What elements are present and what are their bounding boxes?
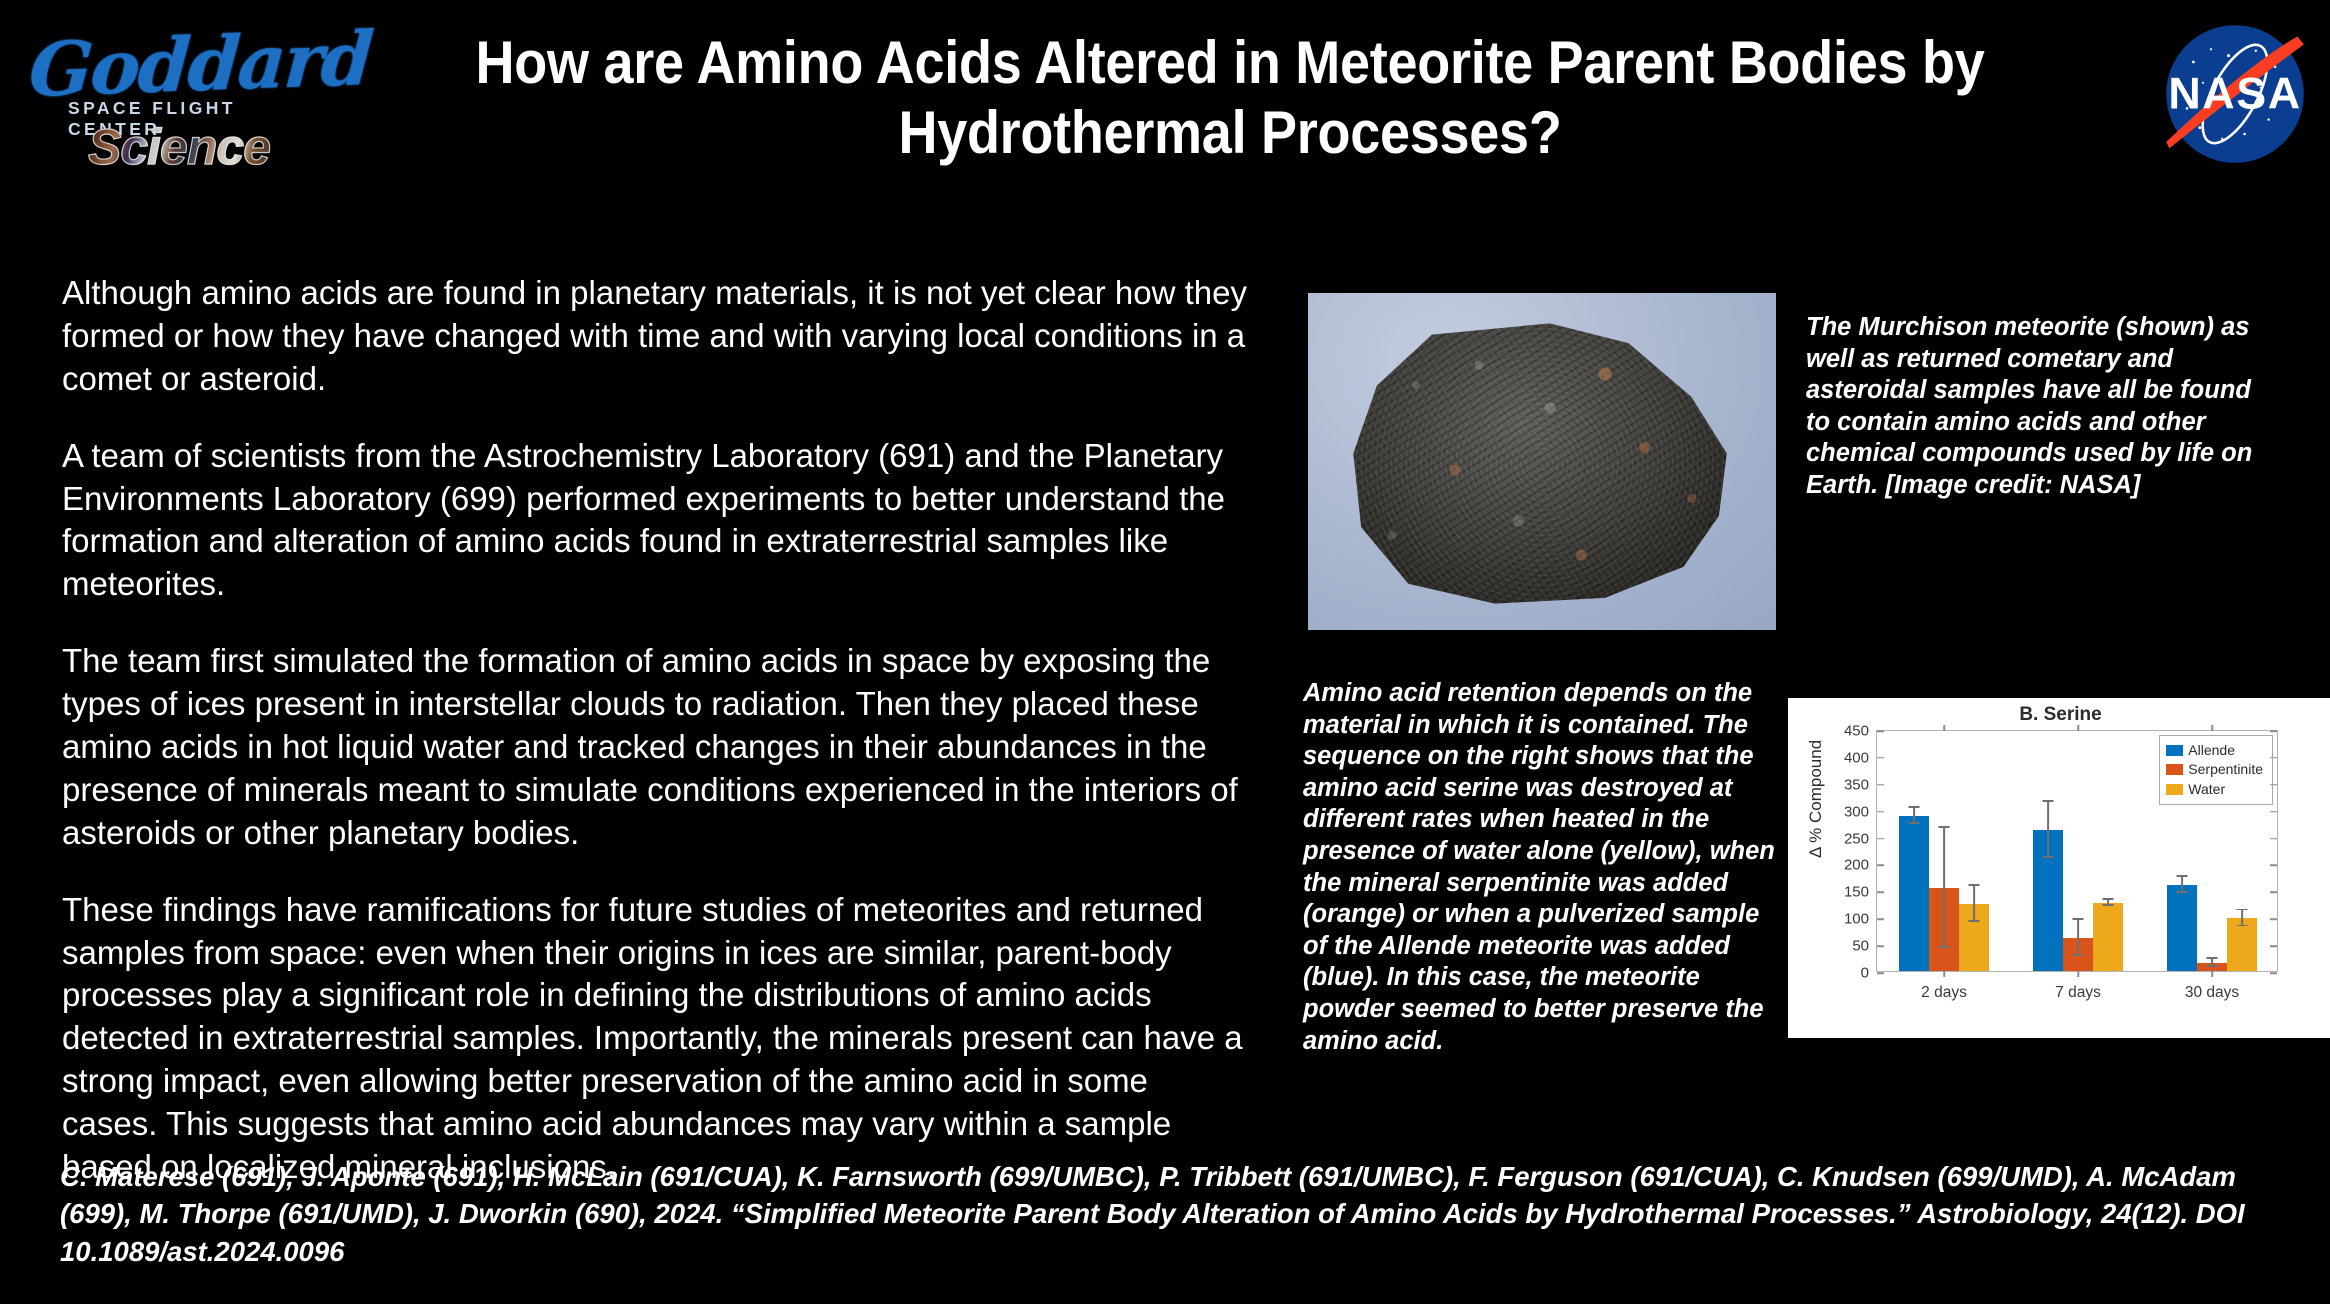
chart-error-bar [1943,828,1945,948]
chart-plot-area: AllendeSerpentiniteWater 050100150200250… [1876,730,2278,972]
chart-error-cap [1969,920,1980,922]
chart-bar-group: 7 days [2011,731,2145,971]
chart-x-tick-mark-top [2077,725,2079,731]
chart-error-cap [1969,884,1980,886]
chart-error-cap [1939,826,1950,828]
chart-y-tick-label: 0 [1861,965,1869,982]
chart-error-cap [1909,822,1920,824]
chart-x-tick-mark [2077,971,2079,977]
chart-y-axis-label: Δ % Compound [1806,740,1826,858]
citation-text: C. Materese (691), J. Aponte (691), H. M… [60,1158,2290,1270]
chart-error-cap [2177,891,2188,893]
chart-x-tick-label: 7 days [2055,984,2101,1002]
chart-bar-slot [2063,731,2093,971]
serine-bar-chart: B. Serine Δ % Compound AllendeSerpentini… [1788,698,2330,1038]
body-text-column: Although amino acids are found in planet… [62,272,1247,1189]
chart-y-tick-label: 50 [1852,938,1869,955]
chart-y-tick-label: 450 [1844,723,1869,740]
science-wordmark: Science [88,118,270,176]
slide-header: Goddard SPACE FLIGHT CENTER Science How … [0,0,2330,220]
chart-error-cap [2103,898,2114,900]
chart-error-bar [1973,886,1975,922]
chart-y-tick-label: 100 [1844,911,1869,928]
chart-error-bar [2077,920,2079,956]
body-paragraph-1: Although amino acids are found in planet… [62,272,1247,401]
body-paragraph-4: These findings have ramifications for fu… [62,889,1247,1189]
slide-root: Goddard SPACE FLIGHT CENTER Science How … [0,0,2330,1304]
chart-error-cap [2237,925,2248,927]
chart-error-cap [2177,875,2188,877]
chart-error-cap [2103,904,2114,906]
chart-x-tick-mark [2211,971,2213,977]
nasa-logo-icon: NASA [2155,14,2315,174]
chart-bar-allende [2167,885,2197,971]
chart-y-tick-label: 350 [1844,776,1869,793]
chart-x-tick-mark [1943,971,1945,977]
chart-y-tick-label: 250 [1844,830,1869,847]
chart-y-tick-label: 400 [1844,749,1869,766]
chart-bar-slot [2227,731,2257,971]
chart-error-cap [2043,856,2054,858]
chart-error-cap [2237,909,2248,911]
goddard-science-logo: Goddard SPACE FLIGHT CENTER Science [30,22,330,182]
chart-x-tick-label: 30 days [2185,984,2239,1002]
chart-bar-slot [2167,731,2197,971]
body-paragraph-3: The team first simulated the formation o… [62,640,1247,854]
nasa-meatball-logo: NASA [2155,14,2315,174]
chart-bar-slot [2033,731,2063,971]
chart-bar-slot [2093,731,2123,971]
chart-bar-slot [1959,731,1989,971]
chart-x-tick-mark-top [1943,725,1945,731]
body-paragraph-2: A team of scientists from the Astrochemi… [62,435,1247,607]
chart-bar-group: 30 days [2145,731,2279,971]
chart-error-cap [1939,946,1950,948]
chart-x-tick-label: 2 days [1921,984,1967,1002]
chart-error-cap [2207,957,2218,959]
chart-bar-group: 2 days [1877,731,2011,971]
chart-title: B. Serine [1788,704,2330,726]
chart-caption: Amino acid retention depends on the mate… [1303,678,1783,1057]
page-title: How are Amino Acids Altered in Meteorite… [465,28,1995,167]
chart-error-cap [2207,965,2218,967]
chart-y-tick-label: 300 [1844,803,1869,820]
chart-error-cap [2043,800,2054,802]
murchison-photo-caption: The Murchison meteorite (shown) as well … [1806,312,2271,502]
chart-x-tick-mark-top [2211,725,2213,731]
chart-bar-allende [1899,816,1929,971]
chart-bar-slot [2197,731,2227,971]
chart-error-cap [1909,806,1920,808]
murchison-meteorite-photo [1308,293,1776,630]
chart-error-cap [2073,918,2084,920]
svg-text:NASA: NASA [2168,68,2301,118]
chart-bar-slot [1929,731,1959,971]
chart-bar-water [2093,903,2123,971]
chart-y-tick-label: 200 [1844,857,1869,874]
chart-bar-slot [1899,731,1929,971]
chart-error-cap [2073,954,2084,956]
chart-y-tick-label: 150 [1844,884,1869,901]
chart-y-tick-mark-right [2270,972,2277,974]
chart-y-tick-mark [1877,972,1884,974]
chart-error-bar [2047,802,2049,858]
